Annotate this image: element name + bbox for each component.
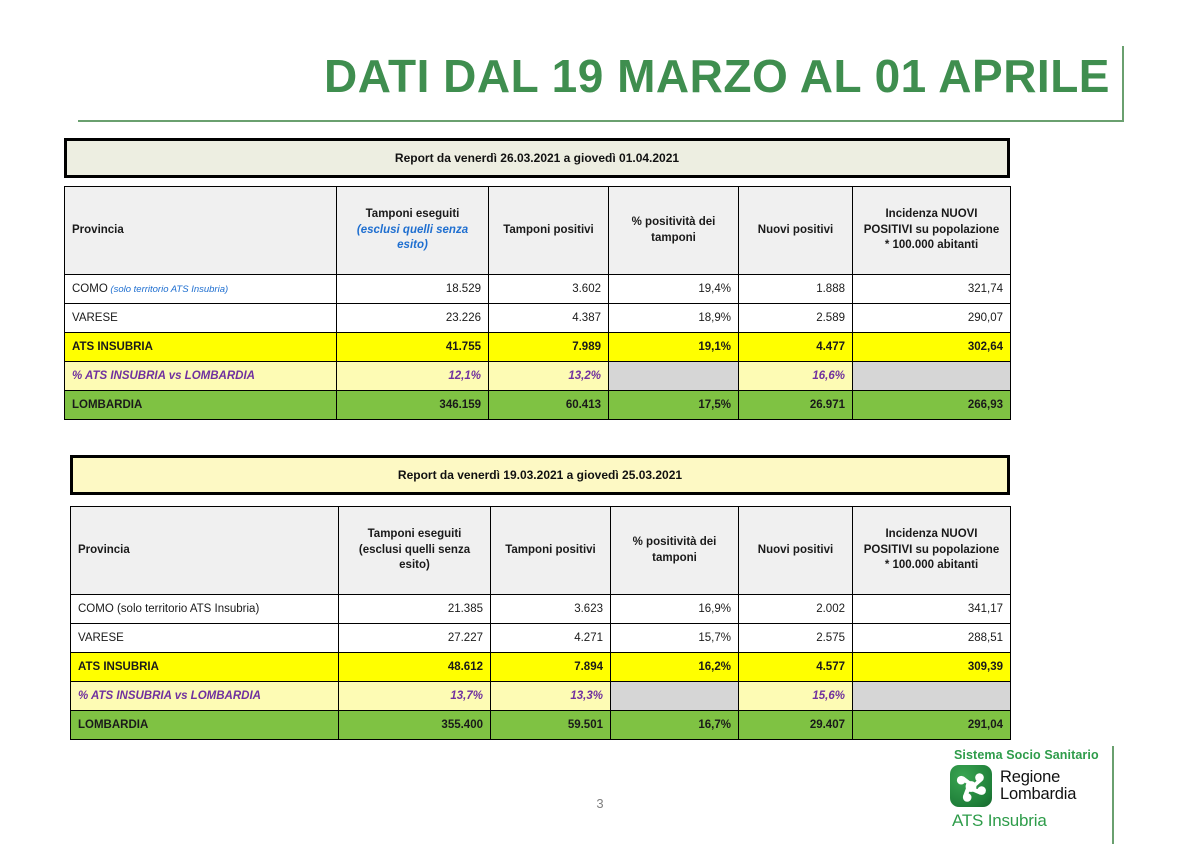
cell-percent-positivita: 16,7% [611,711,739,740]
cell-tamponi-eseguiti: 23.226 [337,304,489,333]
cell-provincia-note: (solo territorio ATS Insubria) [108,284,228,295]
col-header-tamponi-positivi: Tamponi positivi [491,507,611,595]
cell-tamponi-positivi: 3.623 [491,595,611,624]
table-body-current: COMO (solo territorio ATS Insubria)18.52… [65,275,1011,420]
col-header-provincia: Provincia [71,507,339,595]
cell-tamponi-positivi: 13,2% [489,362,609,391]
table-row: % ATS INSUBRIA vs LOMBARDIA12,1%13,2%16,… [65,362,1011,391]
cell-incidenza: 321,74 [853,275,1011,304]
col-header-nuovi-positivi: Nuovi positivi [739,187,853,275]
col-header-tamponi-eseguiti-main: Tamponi eseguiti [366,208,460,220]
cell-tamponi-eseguiti: 48.612 [339,653,491,682]
cell-tamponi-positivi: 7.894 [491,653,611,682]
table-header-row: Provincia Tamponi eseguiti (esclusi quel… [71,507,1011,595]
cell-incidenza [853,682,1011,711]
table-body-previous: COMO (solo territorio ATS Insubria)21.38… [71,595,1011,740]
cell-provincia: ATS INSUBRIA [71,653,339,682]
cell-tamponi-positivi: 60.413 [489,391,609,420]
table-row: VARESE23.2264.38718,9%2.589290,07 [65,304,1011,333]
table-row: COMO (solo territorio ATS Insubria)21.38… [71,595,1011,624]
cell-nuovi-positivi: 15,6% [739,682,853,711]
cell-incidenza [853,362,1011,391]
table-row: COMO (solo territorio ATS Insubria)18.52… [65,275,1011,304]
cell-tamponi-eseguiti: 355.400 [339,711,491,740]
cell-nuovi-positivi: 2.575 [739,624,853,653]
col-header-tamponi-eseguiti-sub: (esclusi quelli senza esito) [344,223,481,254]
report-banner-current: Report da venerdì 26.03.2021 a giovedì 0… [64,138,1010,178]
cell-tamponi-positivi: 3.602 [489,275,609,304]
cell-provincia: LOMBARDIA [71,711,339,740]
cell-tamponi-eseguiti: 13,7% [339,682,491,711]
table-row: % ATS INSUBRIA vs LOMBARDIA13,7%13,3%15,… [71,682,1011,711]
cell-incidenza: 288,51 [853,624,1011,653]
cell-tamponi-eseguiti: 41.755 [337,333,489,362]
col-header-tamponi-eseguiti: Tamponi eseguiti (esclusi quelli senza e… [339,507,491,595]
cell-incidenza: 291,04 [853,711,1011,740]
data-table-current: Provincia Tamponi eseguiti (esclusi quel… [64,186,1011,420]
logo-ats-insubria-text: ATS Insubria [952,811,1130,831]
table-header-row: Provincia Tamponi eseguiti (esclusi quel… [65,187,1011,275]
cell-percent-positivita: 16,9% [611,595,739,624]
cell-incidenza: 266,93 [853,391,1011,420]
col-header-percent-positivita: % positività dei tamponi [609,187,739,275]
col-header-provincia: Provincia [65,187,337,275]
cell-provincia: % ATS INSUBRIA vs LOMBARDIA [71,682,339,711]
cell-tamponi-positivi: 4.387 [489,304,609,333]
cell-provincia: % ATS INSUBRIA vs LOMBARDIA [65,362,337,391]
col-header-incidenza: Incidenza NUOVI POSITIVI su popolazione … [853,187,1011,275]
report-block-current: Report da venerdì 26.03.2021 a giovedì 0… [64,138,1010,420]
logo-lombardia-text: Lombardia [1000,786,1076,803]
table-row: ATS INSUBRIA48.6127.89416,2%4.577309,39 [71,653,1011,682]
cell-percent-positivita: 18,9% [609,304,739,333]
cell-percent-positivita: 17,5% [609,391,739,420]
rosa-camuna-icon [950,765,992,807]
table-row: ATS INSUBRIA41.7557.98919,1%4.477302,64 [65,333,1011,362]
cell-tamponi-positivi: 13,3% [491,682,611,711]
cell-provincia: COMO (solo territorio ATS Insubria) [65,275,337,304]
table-row: LOMBARDIA346.15960.41317,5%26.971266,93 [65,391,1011,420]
logo-sistema-text: Sistema Socio Sanitario [954,748,1130,762]
cell-percent-positivita: 16,2% [611,653,739,682]
cell-percent-positivita: 19,4% [609,275,739,304]
cell-provincia: ATS INSUBRIA [65,333,337,362]
cell-tamponi-eseguiti: 18.529 [337,275,489,304]
col-header-tamponi-eseguiti: Tamponi eseguiti (esclusi quelli senza e… [337,187,489,275]
cell-nuovi-positivi: 1.888 [739,275,853,304]
data-table-previous: Provincia Tamponi eseguiti (esclusi quel… [70,506,1011,740]
table-row: LOMBARDIA355.40059.50116,7%29.407291,04 [71,711,1011,740]
cell-incidenza: 290,07 [853,304,1011,333]
cell-provincia: VARESE [71,624,339,653]
col-header-tamponi-positivi: Tamponi positivi [489,187,609,275]
cell-nuovi-positivi: 26.971 [739,391,853,420]
slide-title-block: DATI DAL 19 MARZO AL 01 APRILE [78,44,1124,122]
report-block-previous: Report da venerdì 19.03.2021 a giovedì 2… [70,455,1010,740]
cell-nuovi-positivi: 16,6% [739,362,853,391]
logo-regione-text: Regione [1000,769,1076,786]
cell-tamponi-eseguiti: 12,1% [337,362,489,391]
title-underline-rule [78,120,1124,122]
cell-tamponi-positivi: 4.271 [491,624,611,653]
cell-tamponi-positivi: 7.989 [489,333,609,362]
cell-tamponi-eseguiti: 27.227 [339,624,491,653]
title-right-vertical-bar [1122,46,1124,122]
page-title: DATI DAL 19 MARZO AL 01 APRILE [324,44,1110,108]
table-row: VARESE27.2274.27115,7%2.575288,51 [71,624,1011,653]
cell-tamponi-eseguiti: 21.385 [339,595,491,624]
logo-divider-bar [1112,746,1114,844]
logo-wordmark: Regione Lombardia [1000,769,1076,803]
cell-nuovi-positivi: 29.407 [739,711,853,740]
cell-percent-positivita [611,682,739,711]
cell-provincia: COMO (solo territorio ATS Insubria) [71,595,339,624]
cell-incidenza: 309,39 [853,653,1011,682]
cell-tamponi-positivi: 59.501 [491,711,611,740]
cell-provincia: VARESE [65,304,337,333]
logo-main-row: Regione Lombardia [950,765,1130,807]
report-banner-previous: Report da venerdì 19.03.2021 a giovedì 2… [70,455,1010,495]
cell-incidenza: 302,64 [853,333,1011,362]
cell-nuovi-positivi: 4.577 [739,653,853,682]
col-header-percent-positivita: % positività dei tamponi [611,507,739,595]
cell-incidenza: 341,17 [853,595,1011,624]
cell-percent-positivita: 19,1% [609,333,739,362]
cell-provincia: LOMBARDIA [65,391,337,420]
cell-tamponi-eseguiti: 346.159 [337,391,489,420]
cell-nuovi-positivi: 2.002 [739,595,853,624]
cell-nuovi-positivi: 4.477 [739,333,853,362]
col-header-incidenza: Incidenza NUOVI POSITIVI su popolazione … [853,507,1011,595]
col-header-tamponi-eseguiti-main: Tamponi eseguiti [368,528,462,540]
logo-block: Sistema Socio Sanitario Regione Lombard [950,748,1130,844]
cell-percent-positivita [609,362,739,391]
cell-percent-positivita: 15,7% [611,624,739,653]
col-header-tamponi-eseguiti-sub: (esclusi quelli senza esito) [346,543,483,574]
cell-nuovi-positivi: 2.589 [739,304,853,333]
col-header-nuovi-positivi: Nuovi positivi [739,507,853,595]
